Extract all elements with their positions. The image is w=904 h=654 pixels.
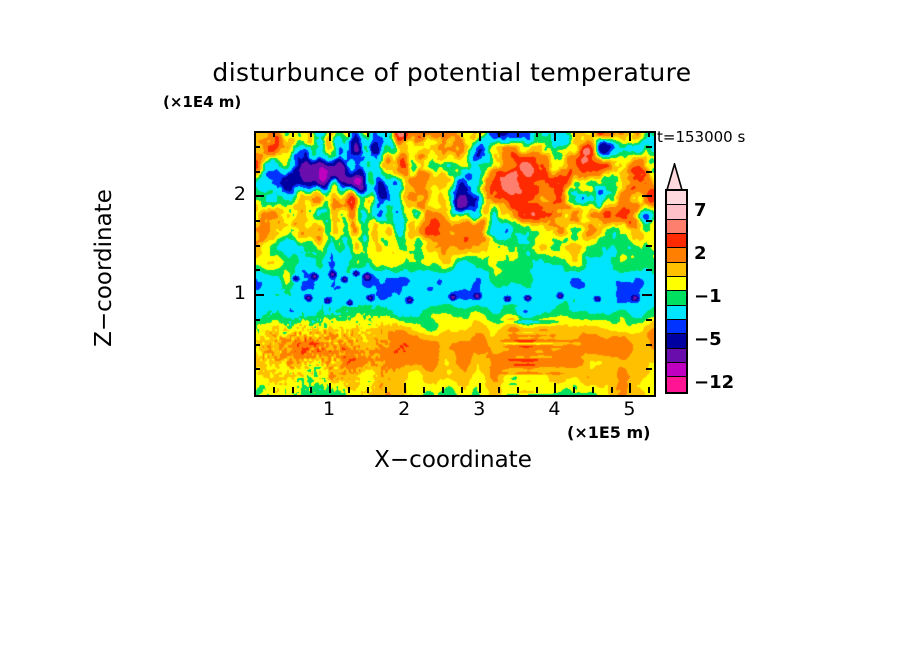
x-major-tick [329,383,331,393]
x-major-tick-top [329,131,331,141]
x-minor-tick [461,387,463,393]
x-minor-tick [442,387,444,393]
x-minor-tick-top [367,131,369,137]
y-minor-tick [254,269,260,271]
x-tick-label: 5 [614,398,644,420]
x-minor-tick-top [592,131,594,137]
y-minor-tick [254,319,260,321]
colorbar-arrow-icon [663,163,686,191]
x-minor-tick [367,387,369,393]
x-minor-tick [310,387,312,393]
x-tick-label: 3 [464,398,494,420]
y-tick-label: 1 [222,282,246,304]
x-major-tick [554,383,556,393]
x-minor-tick-top [310,131,312,137]
colorbar-tick-label: 2 [694,243,707,264]
colorbar-tick-label: −1 [694,286,722,307]
x-minor-tick [273,387,275,393]
x-major-tick [629,383,631,393]
y-minor-tick-right [646,344,652,346]
x-minor-tick-top [442,131,444,137]
page-title: disturbunce of potential temperature [0,58,904,87]
x-tick-label: 4 [539,398,569,420]
contour-field-canvas[interactable] [256,133,654,395]
y-minor-tick-right [646,245,652,247]
y-minor-tick [254,146,260,148]
time-stamp-label: t=153000 s [657,128,745,146]
x-minor-tick-top [348,131,350,137]
x-major-tick [404,383,406,393]
x-minor-tick [611,387,613,393]
x-minor-tick [348,387,350,393]
colorbar-band [667,377,686,391]
colorbar-band [667,306,686,320]
colorbar-tick-label: −5 [694,329,722,350]
colorbar-band [667,320,686,334]
colorbar[interactable] [665,189,688,394]
x-major-tick-top [629,131,631,141]
colorbar-band [667,277,686,291]
x-axis-title: X−coordinate [254,447,652,473]
x-minor-tick-top [385,131,387,137]
x-minor-tick [592,387,594,393]
y-major-tick-right [642,294,652,296]
y-tick-label: 2 [222,183,246,205]
colorbar-tick-label: −12 [694,372,734,393]
y-minor-tick [254,171,260,173]
z-axis-units-label: (×1E4 m) [163,93,241,111]
y-minor-tick-right [646,269,652,271]
x-minor-tick [573,387,575,393]
x-minor-tick [292,387,294,393]
x-minor-tick-top [273,131,275,137]
x-major-tick [479,383,481,393]
x-minor-tick-top [648,131,650,137]
y-minor-tick-right [646,220,652,222]
x-minor-tick-top [292,131,294,137]
colorbar-band [667,263,686,277]
y-minor-tick [254,220,260,222]
x-tick-label: 1 [314,398,344,420]
y-minor-tick-right [646,171,652,173]
y-minor-tick [254,344,260,346]
y-minor-tick-right [646,146,652,148]
x-axis-units-label: (×1E5 m) [567,423,650,442]
x-minor-tick [648,387,650,393]
colorbar-band [667,234,686,248]
colorbar-band [667,248,686,262]
x-minor-tick-top [423,131,425,137]
x-minor-tick [536,387,538,393]
colorbar-band [667,349,686,363]
colorbar-band [667,334,686,348]
y-minor-tick-right [646,319,652,321]
figure-root: disturbunce of potential temperature (×1… [0,0,904,654]
x-major-tick-top [554,131,556,141]
x-minor-tick-top [498,131,500,137]
y-major-tick [254,195,264,197]
x-minor-tick-top [517,131,519,137]
colorbar-band [667,191,686,205]
y-major-tick-right [642,195,652,197]
x-minor-tick-top [573,131,575,137]
x-minor-tick [385,387,387,393]
x-major-tick-top [479,131,481,141]
y-minor-tick-right [646,368,652,370]
x-minor-tick [498,387,500,393]
y-major-tick [254,294,264,296]
x-minor-tick-top [536,131,538,137]
x-minor-tick [423,387,425,393]
y-minor-tick [254,368,260,370]
colorbar-band [667,363,686,377]
contour-plot-area[interactable] [254,131,656,397]
x-minor-tick-top [461,131,463,137]
x-minor-tick-top [611,131,613,137]
x-tick-label: 2 [389,398,419,420]
y-minor-tick [254,245,260,247]
colorbar-band [667,220,686,234]
x-minor-tick [517,387,519,393]
x-major-tick-top [404,131,406,141]
colorbar-band [667,291,686,305]
y-axis-title: Z−coordinate [91,118,117,418]
colorbar-tick-label: 7 [694,200,707,221]
colorbar-band [667,205,686,219]
